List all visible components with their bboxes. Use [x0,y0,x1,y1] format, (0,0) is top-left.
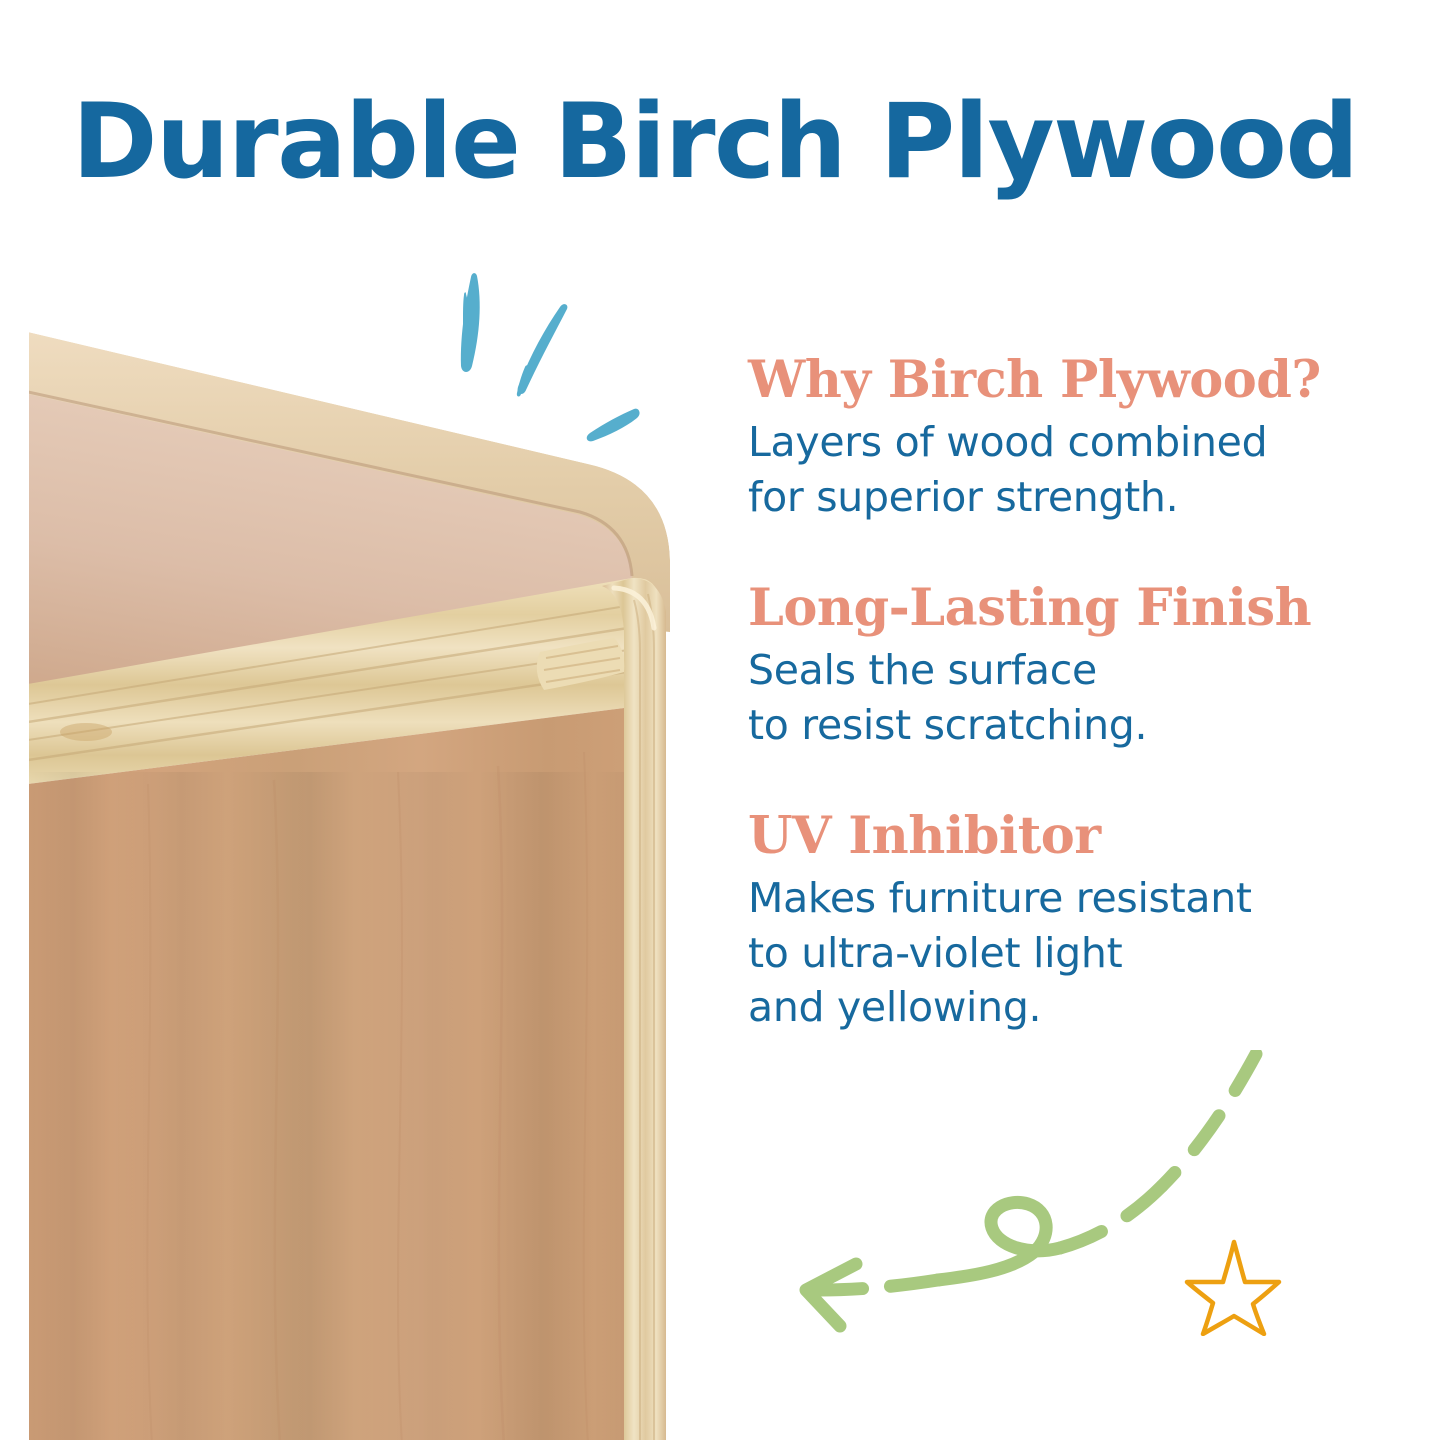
feature-body-line: for superior strength. [748,470,1348,525]
feature-body-line: Seals the surface [748,643,1348,698]
feature-body-line: to resist scratching. [748,698,1348,753]
feature-body-line: and yellowing. [748,980,1348,1035]
feature-block-uv-inhibitor: UV Inhibitor Makes furniture resistant t… [748,808,1348,1035]
feature-body: Makes furniture resistant to ultra-viole… [748,871,1348,1035]
feature-body-line: Layers of wood combined [748,415,1348,470]
feature-body-line: Makes furniture resistant [748,871,1348,926]
birch-plywood-cabinet-corner-illustration [28,332,673,1440]
feature-body: Layers of wood combined for superior str… [748,415,1348,524]
star-icon [1182,1232,1286,1341]
infographic-page: Durable Birch Plywood [0,0,1440,1440]
feature-body-line: to ultra-violet light [748,926,1348,981]
page-title: Durable Birch Plywood [72,88,1382,196]
feature-list: Why Birch Plywood? Layers of wood combin… [748,352,1348,1035]
sparkle-strokes [430,268,680,473]
feature-block-why-birch-plywood: Why Birch Plywood? Layers of wood combin… [748,352,1348,524]
feature-heading: Long-Lasting Finish [748,580,1348,637]
product-photo [28,332,673,1440]
feature-block-long-lasting-finish: Long-Lasting Finish Seals the surface to… [748,580,1348,752]
feature-body: Seals the surface to resist scratching. [748,643,1348,752]
feature-heading: UV Inhibitor [748,808,1348,865]
feature-heading: Why Birch Plywood? [748,352,1348,409]
